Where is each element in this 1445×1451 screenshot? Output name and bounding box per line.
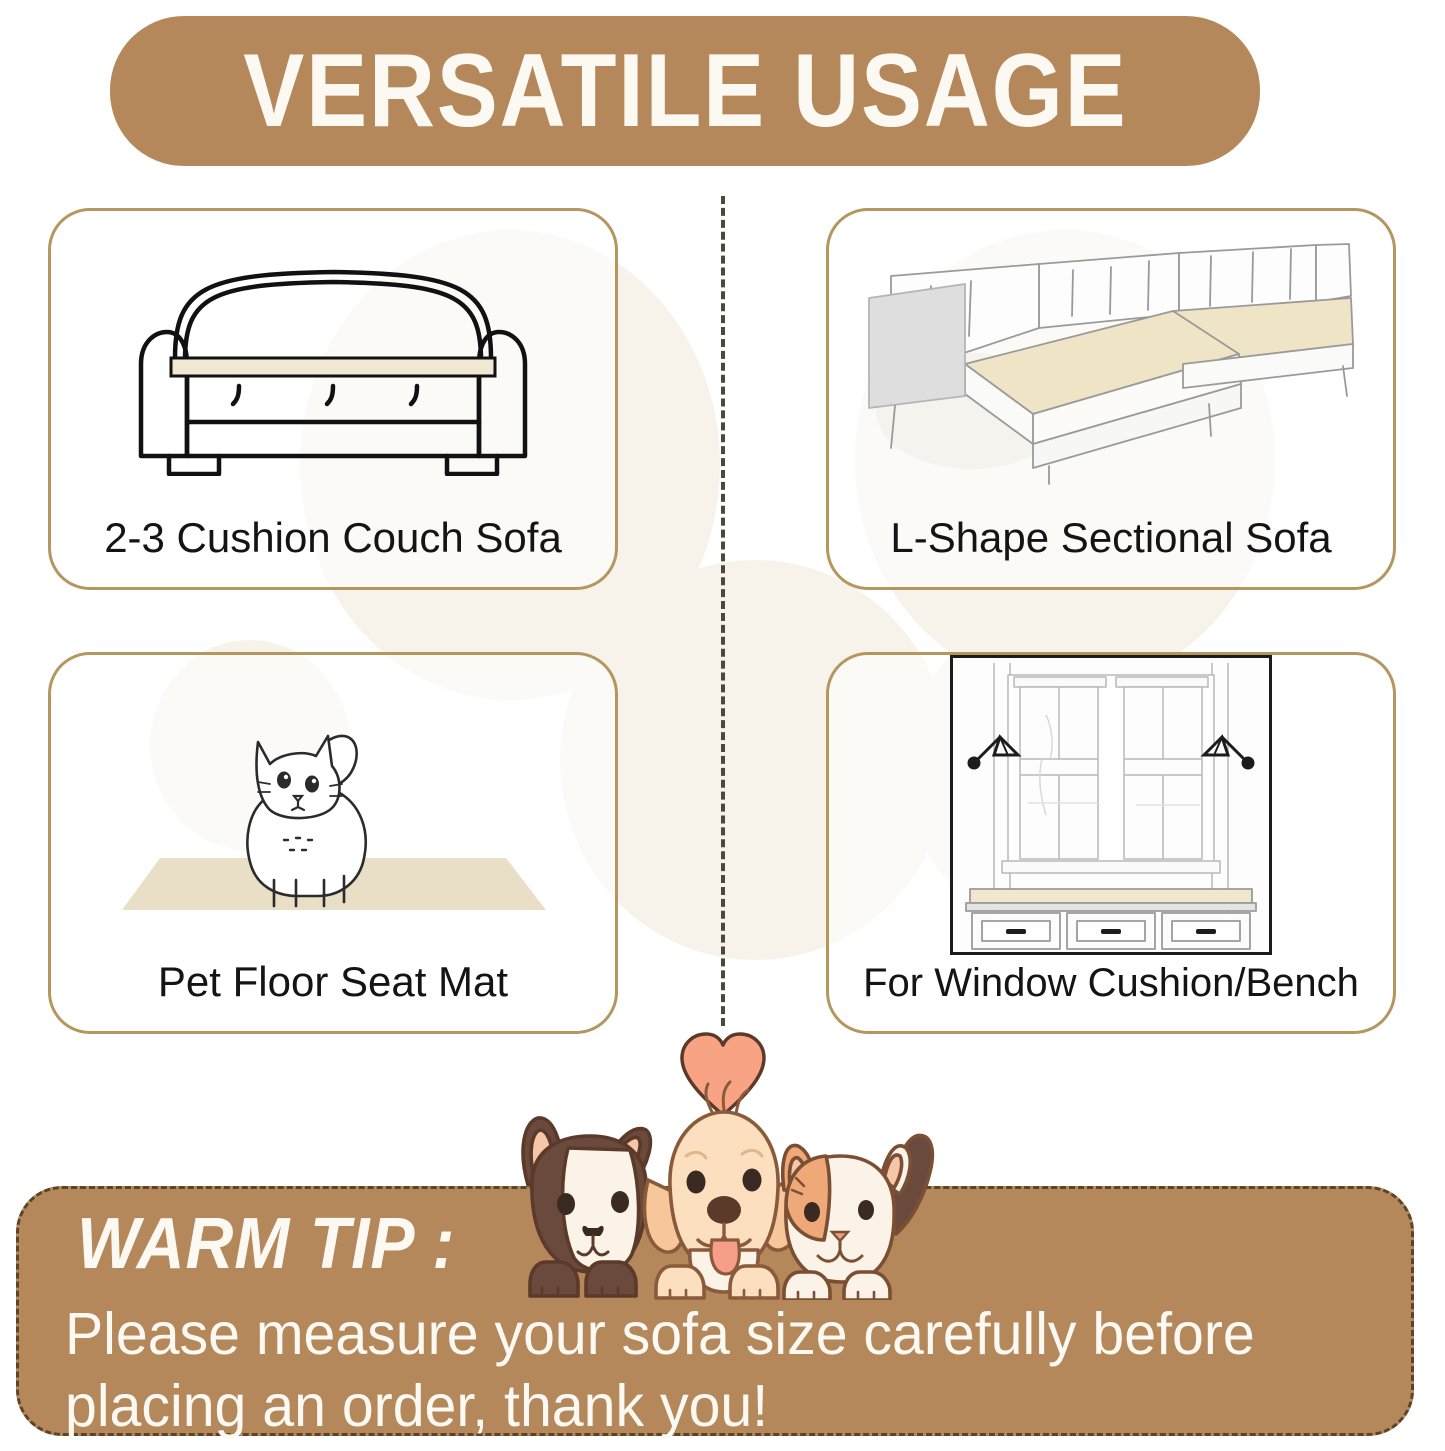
french-bulldog-icon xyxy=(523,1118,650,1296)
sofa-line-drawing-icon xyxy=(133,246,533,476)
usage-card-window-bench[interactable]: For Window Cushion/Bench xyxy=(826,652,1396,1034)
title-banner: VERSATILE USAGE xyxy=(110,16,1260,166)
warm-tip-line-1: Please measure your sofa size carefully … xyxy=(65,1299,1365,1371)
cat-on-mat-icon xyxy=(98,680,568,930)
cat-eye xyxy=(305,776,319,793)
dog-eye xyxy=(687,1171,706,1194)
usage-card-couch-sofa[interactable]: 2-3 Cushion Couch Sofa xyxy=(48,208,618,590)
usage-card-label: For Window Cushion/Bench xyxy=(829,961,1393,1005)
usage-card-label: 2-3 Cushion Couch Sofa xyxy=(51,515,615,561)
pets-illustration xyxy=(490,1000,960,1300)
cat-eye xyxy=(858,1200,874,1220)
window-bench-sketch-icon xyxy=(950,655,1272,955)
calico-cat-icon xyxy=(783,1135,933,1300)
vertical-dashed-divider xyxy=(721,196,725,1026)
card-art-container xyxy=(51,669,615,941)
warm-tip-line-2: placing an order, thank you! xyxy=(65,1371,1365,1443)
dog-eye xyxy=(611,1191,629,1213)
card-art-container xyxy=(829,669,1393,941)
warm-tip-heading: WARM TIP : xyxy=(77,1203,455,1285)
usage-card-pet-mat[interactable]: Pet Floor Seat Mat xyxy=(48,652,618,1034)
warm-tip-body: Please measure your sofa size carefully … xyxy=(65,1299,1365,1443)
page-title: VERSATILE USAGE xyxy=(243,39,1127,143)
cream-seat-cover xyxy=(171,358,495,376)
usage-card-label: L-Shape Sectional Sofa xyxy=(829,515,1393,561)
usage-card-sectional-sofa[interactable]: L-Shape Sectional Sofa xyxy=(826,208,1396,590)
dog-nose xyxy=(707,1196,741,1224)
dog-tongue xyxy=(711,1240,739,1274)
card-art-container xyxy=(51,225,615,497)
dog-eye xyxy=(743,1169,762,1192)
usage-card-label: Pet Floor Seat Mat xyxy=(51,959,615,1005)
card-art-container xyxy=(829,225,1393,497)
dog-eye xyxy=(557,1193,575,1215)
cat-eye xyxy=(277,772,291,789)
infographic-page: VERSATILE USAGE xyxy=(0,0,1445,1451)
l-shape-sectional-icon xyxy=(861,236,1361,486)
bench-cushion xyxy=(970,889,1252,903)
cat-eye xyxy=(804,1202,820,1222)
